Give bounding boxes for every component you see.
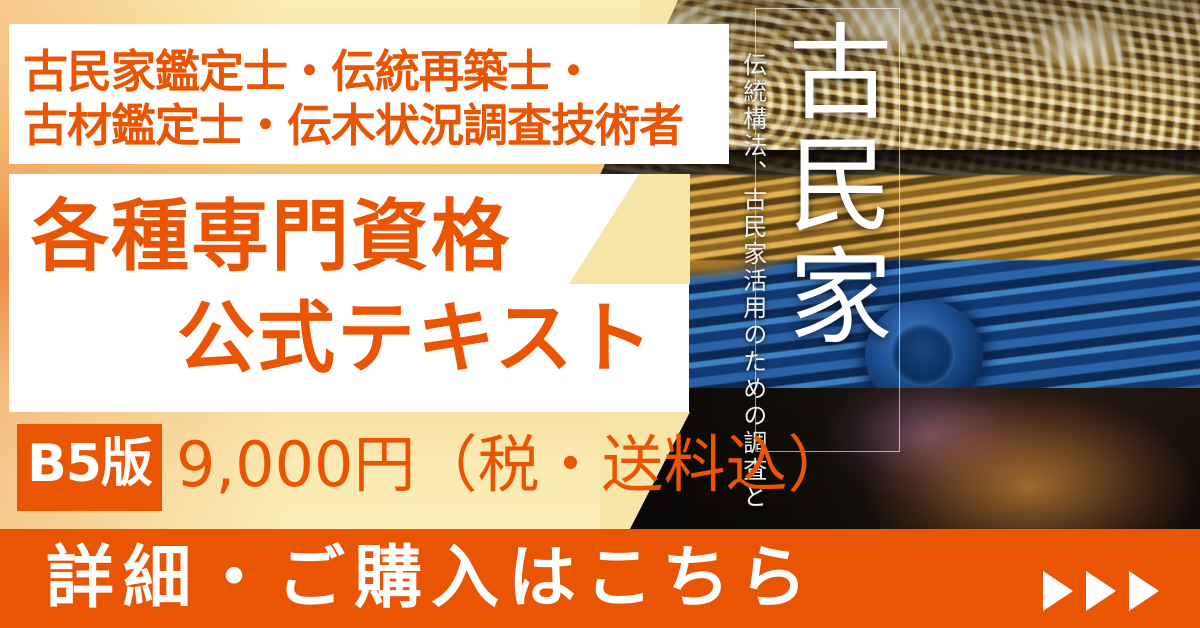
format-badge: B5版 — [17, 424, 162, 511]
title-white-box: 各種専門資格 公式テキスト — [9, 174, 689, 412]
title-line-1: 各種専門資格 — [31, 198, 511, 276]
cta-label: 詳細・ご購入はこちら — [46, 545, 816, 613]
title-line-2: 公式テキスト — [177, 300, 655, 378]
cover-title: 古民家 — [760, 18, 894, 354]
triangle-right-icon-3 — [1129, 571, 1159, 611]
price-text: 9,000円（税・送料込） — [176, 434, 850, 496]
headline-line-1: 古民家鑑定士・伝統再築士・ — [23, 49, 595, 94]
triangle-right-icon-1 — [1043, 571, 1073, 611]
headline-white-box: 古民家鑑定士・伝統再築士・ 古材鑑定士・伝木状況調査技術者 — [9, 24, 729, 164]
headline-line-2: 古材鑑定士・伝木状況調査技術者 — [23, 103, 683, 148]
promo-banner: 伝統構法、古民家活用のための調査と再生の 古民家 古民家鑑定士・伝統再築士・ 古… — [0, 0, 1200, 628]
cta-arrows — [1043, 571, 1159, 611]
format-badge-label: B5版 — [17, 438, 162, 490]
triangle-right-icon-2 — [1086, 571, 1116, 611]
cta-bar[interactable]: 詳細・ご購入はこちら — [0, 529, 1200, 628]
